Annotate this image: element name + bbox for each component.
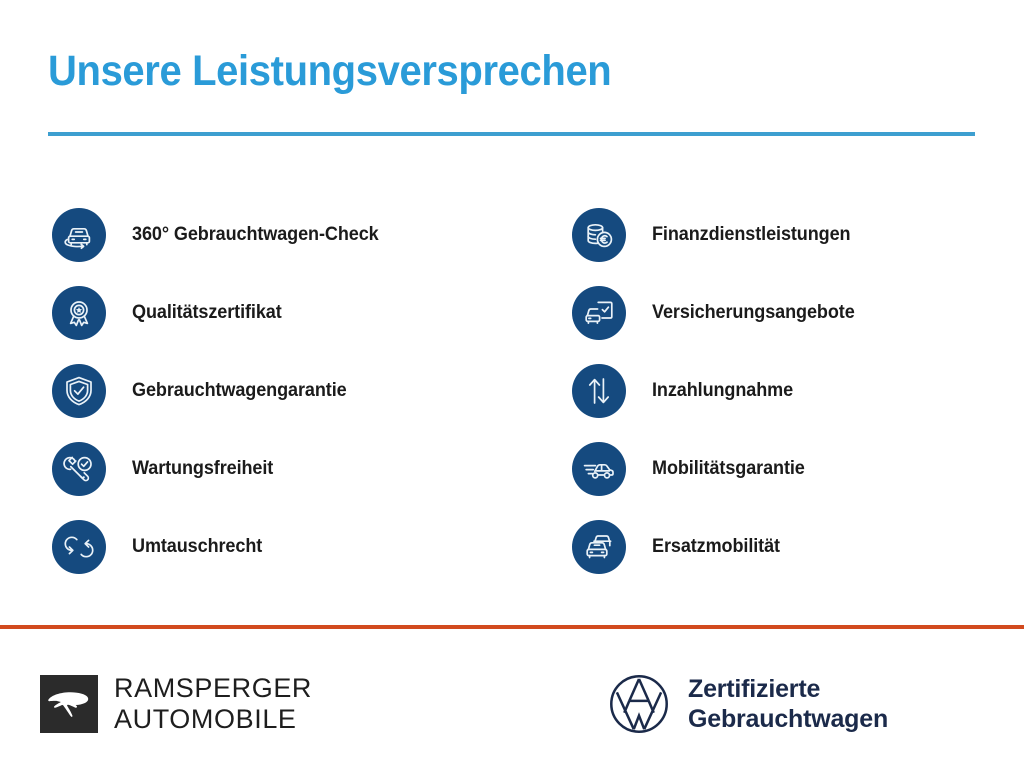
feature-grid: 360° Gebrauchtwagen-Check Finanzdienstle… xyxy=(0,196,1024,586)
vw-roundel-icon xyxy=(608,673,670,735)
wrench-check-icon xyxy=(52,442,106,496)
feature-label: Gebrauchtwagengarantie xyxy=(132,379,347,403)
ramsperger-r-logo-icon xyxy=(40,675,98,733)
feature-item-wartungsfreiheit[interactable]: Wartungsfreiheit xyxy=(0,430,520,508)
feature-item-versicherungsangebote[interactable]: Versicherungsangebote xyxy=(520,274,1024,352)
vw-wordmark: Zertifizierte Gebrauchtwagen xyxy=(688,674,888,734)
feature-item-inzahlungnahme[interactable]: Inzahlungnahme xyxy=(520,352,1024,430)
footer-divider-orange xyxy=(0,625,1024,629)
vw-line1: Zertifizierte xyxy=(688,674,888,704)
feature-label: Wartungsfreiheit xyxy=(132,457,273,481)
coins-euro-icon xyxy=(572,208,626,262)
feature-item-gebrauchtwagengarantie[interactable]: Gebrauchtwagengarantie xyxy=(0,352,520,430)
title-block: Unsere Leistungsversprechen xyxy=(48,46,976,96)
feature-label: 360° Gebrauchtwagen-Check xyxy=(132,223,379,247)
feature-label: Umtauschrecht xyxy=(132,535,262,559)
feature-item-finanzdienstleistungen[interactable]: Finanzdienstleistungen xyxy=(520,196,1024,274)
feature-item-ersatzmobilitaet[interactable]: Ersatzmobilität xyxy=(520,508,1024,586)
two-cars-icon xyxy=(572,520,626,574)
shield-check-icon xyxy=(52,364,106,418)
feature-label: Finanzdienstleistungen xyxy=(652,223,850,247)
feature-label: Inzahlungnahme xyxy=(652,379,793,403)
ramsperger-line2: AUTOMOBILE xyxy=(114,704,312,735)
car-360-check-icon xyxy=(52,208,106,262)
feature-item-umtauschrecht[interactable]: Umtauschrecht xyxy=(0,508,520,586)
feature-label: Qualitätszertifikat xyxy=(132,301,282,325)
ramsperger-wordmark: RAMSPERGER AUTOMOBILE xyxy=(114,673,312,735)
slide-root: Unsere Leistungsversprechen 360° Gebrau xyxy=(0,0,1024,768)
exchange-arrows-icon xyxy=(52,520,106,574)
car-document-check-icon xyxy=(572,286,626,340)
ramsperger-logo[interactable]: RAMSPERGER AUTOMOBILE xyxy=(40,673,312,735)
feature-label: Ersatzmobilität xyxy=(652,535,780,559)
footer: RAMSPERGER AUTOMOBILE Zerti xyxy=(0,660,1024,768)
feature-item-360-check[interactable]: 360° Gebrauchtwagen-Check xyxy=(0,196,520,274)
arrows-up-down-icon xyxy=(572,364,626,418)
car-speed-icon xyxy=(572,442,626,496)
volkswagen-logo[interactable]: Zertifizierte Gebrauchtwagen xyxy=(608,673,888,735)
award-rosette-icon xyxy=(52,286,106,340)
ramsperger-line1: RAMSPERGER xyxy=(114,673,312,704)
page-title: Unsere Leistungsversprechen xyxy=(48,46,911,96)
feature-label: Mobilitätsgarantie xyxy=(652,457,805,481)
vw-line2: Gebrauchtwagen xyxy=(688,704,888,734)
feature-label: Versicherungsangebote xyxy=(652,301,855,325)
feature-item-mobilitaetsgarantie[interactable]: Mobilitätsgarantie xyxy=(520,430,1024,508)
feature-item-qualitaetszertifikat[interactable]: Qualitätszertifikat xyxy=(0,274,520,352)
title-divider-blue xyxy=(48,132,975,136)
